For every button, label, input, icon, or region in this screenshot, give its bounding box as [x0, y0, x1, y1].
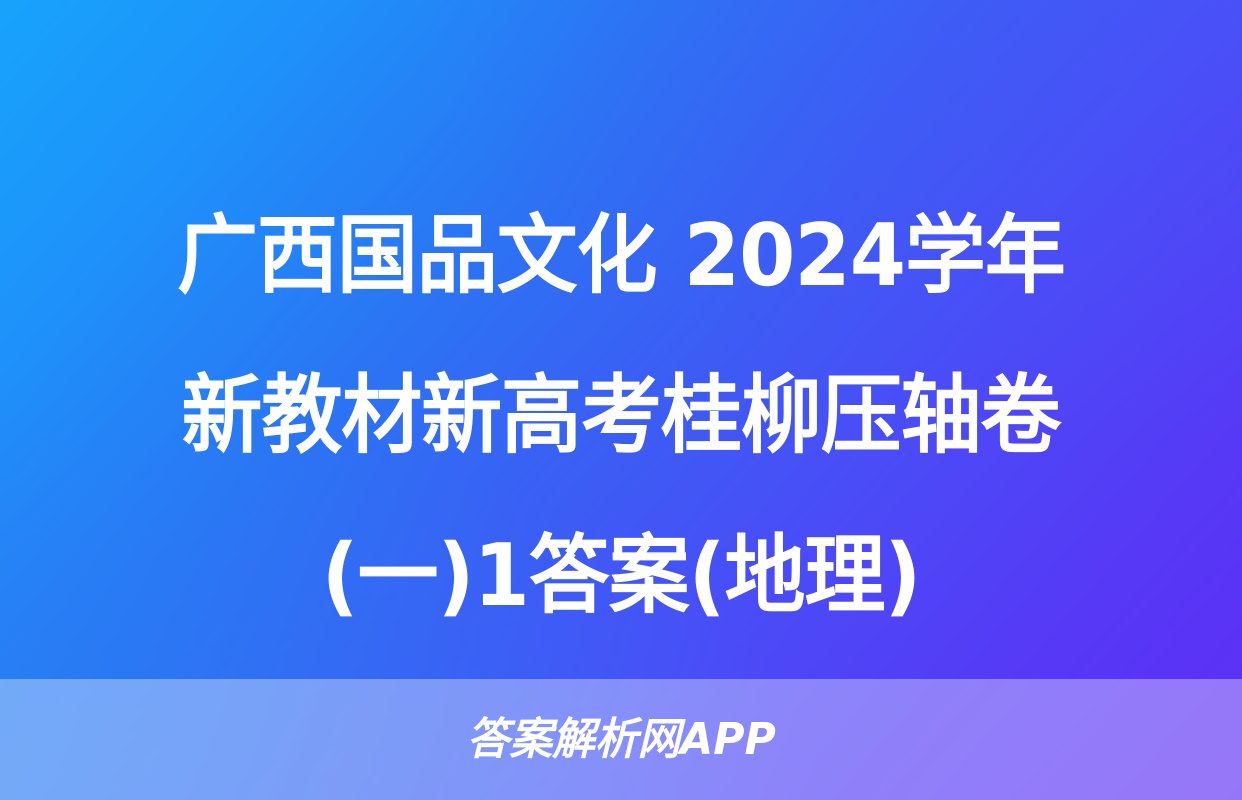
app-watermark-label: 答案解析网APP — [466, 718, 775, 762]
poster-title-block: 广西国品文化 2024学年 新教材新高考桂柳压轴卷 (一)1答案(地理) — [0, 176, 1242, 656]
page-title-line-2: 新教材新高考桂柳压轴卷 — [37, 336, 1204, 496]
page-title-line-3: (一)1答案(地理) — [37, 496, 1204, 656]
page-title-line-1: 广西国品文化 2024学年 — [37, 176, 1204, 336]
footer-watermark-band: 答案解析网APP — [0, 679, 1242, 800]
poster-canvas: 广西国品文化 2024学年 新教材新高考桂柳压轴卷 (一)1答案(地理) 答案解… — [0, 0, 1242, 800]
